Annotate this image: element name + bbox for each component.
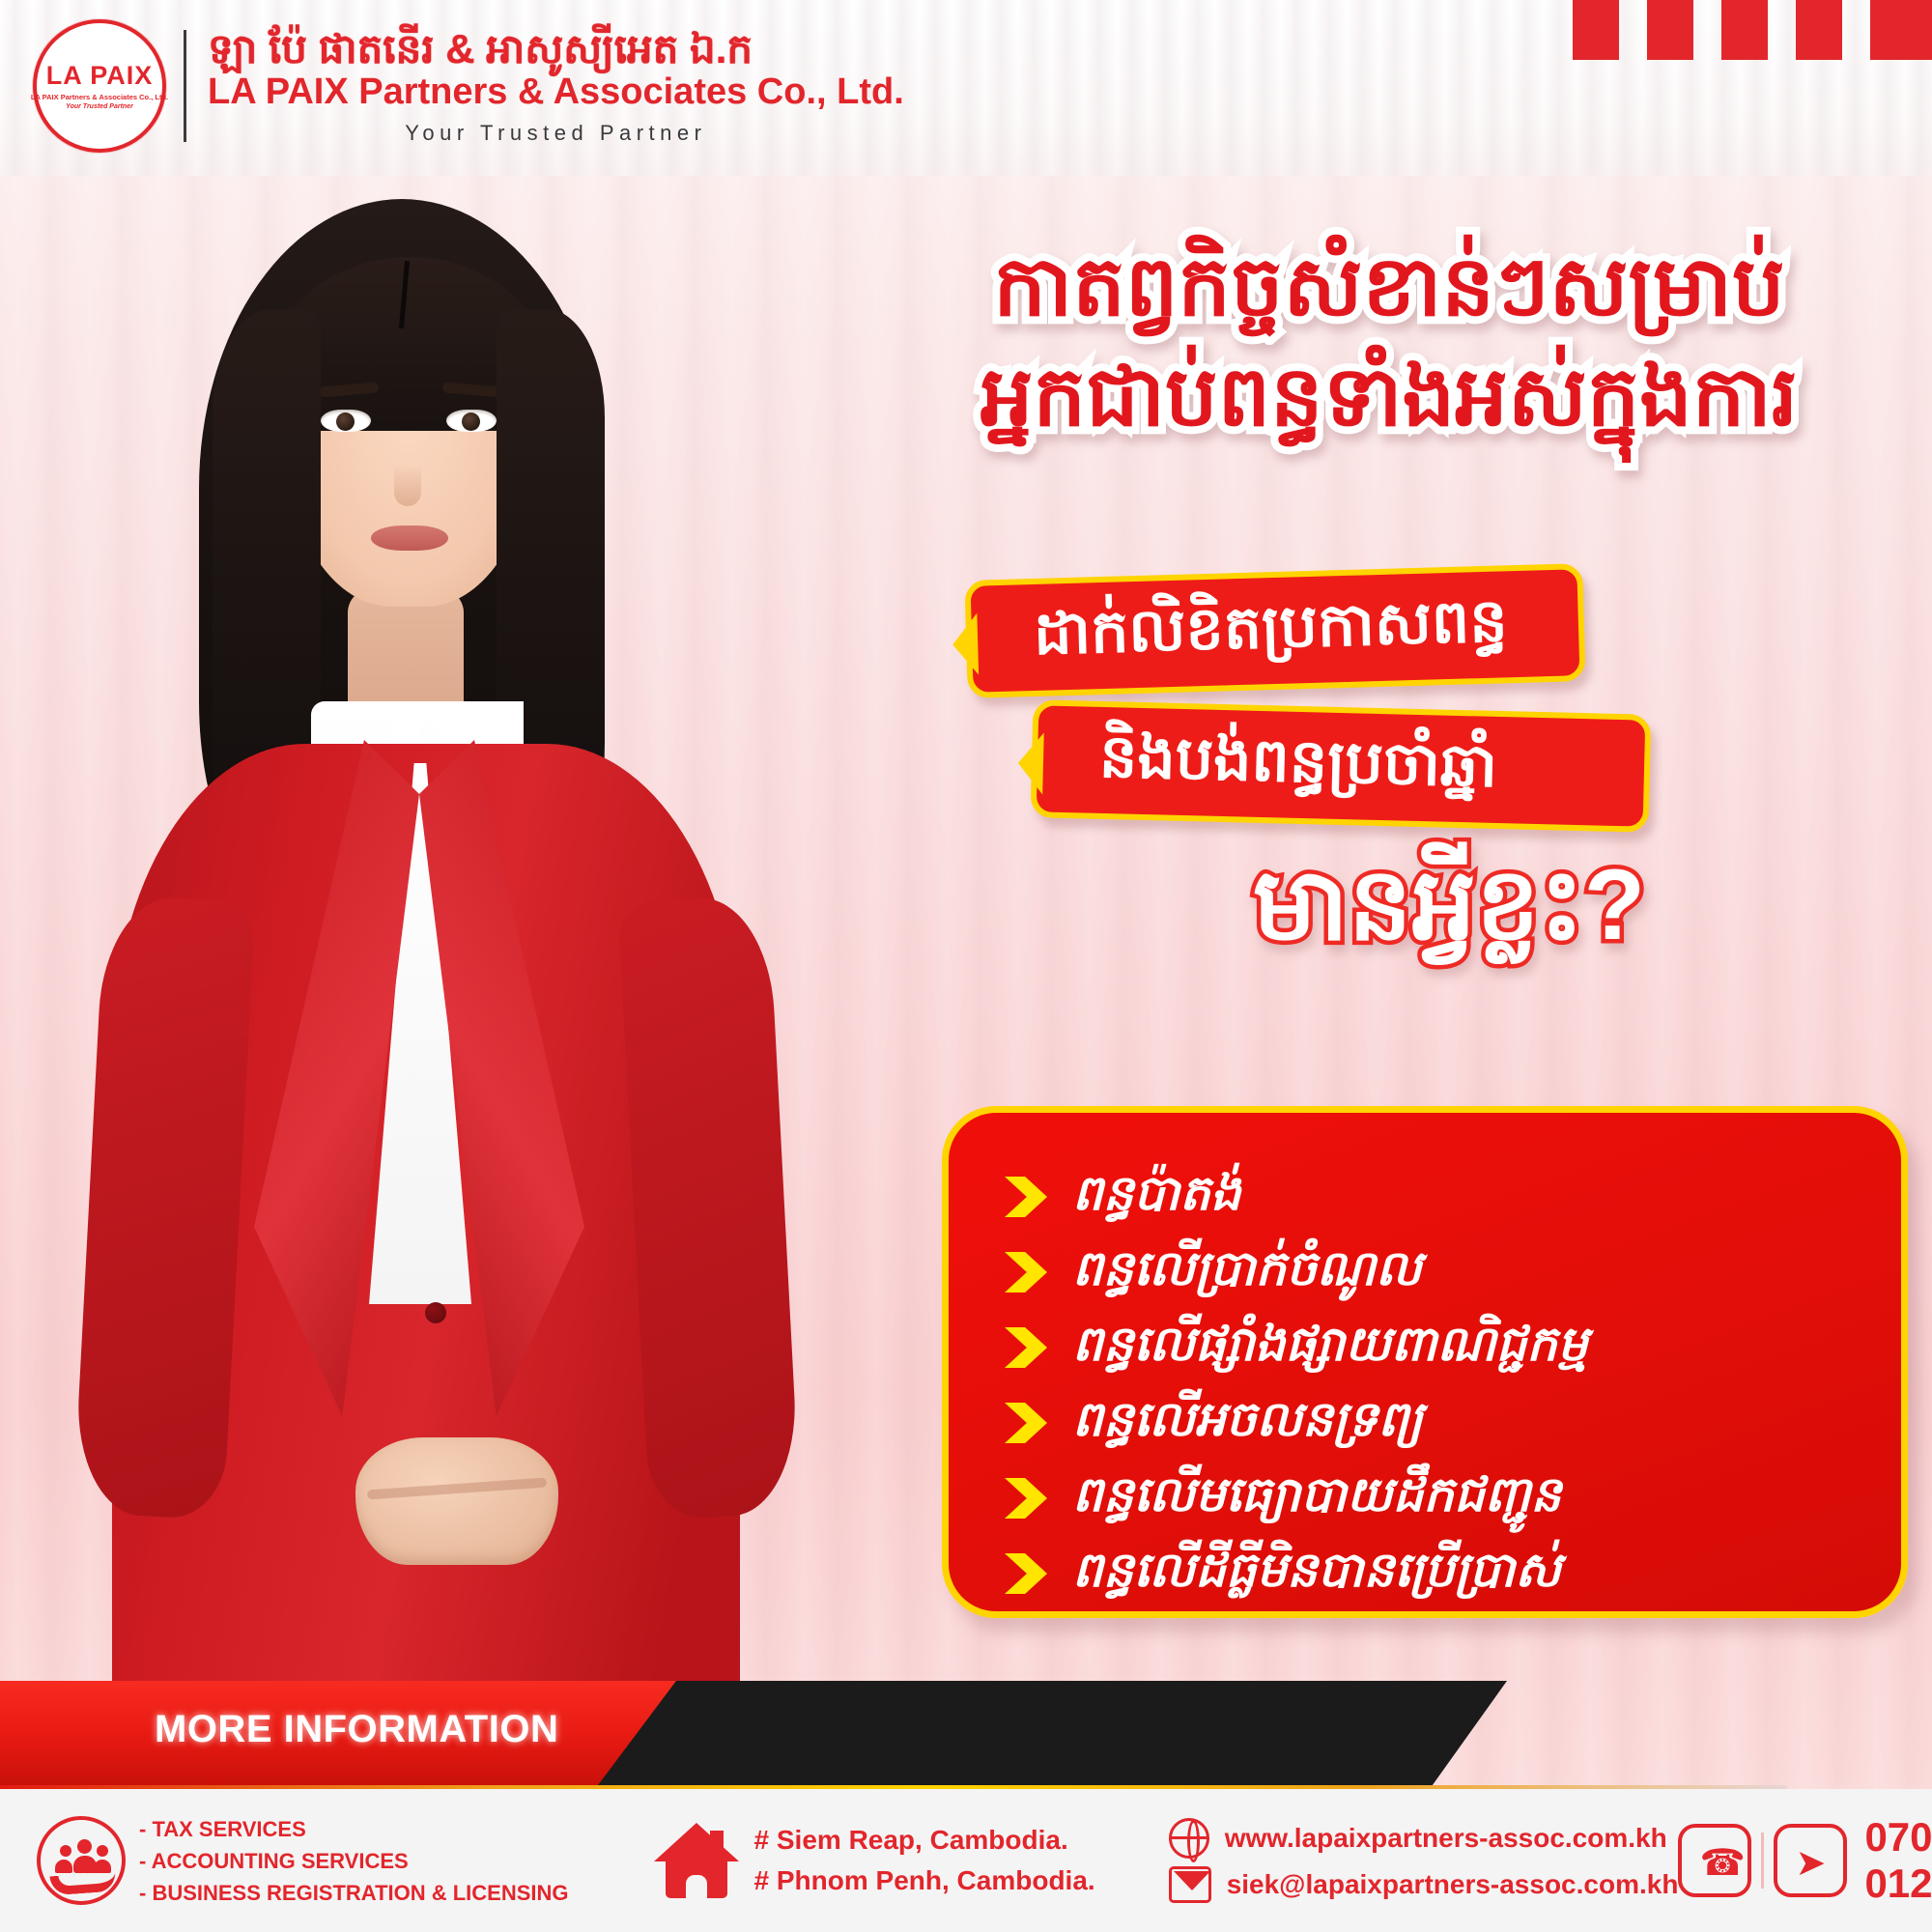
poster-canvas: LA PAIX LA PAIX Partners & Associates Co…	[0, 0, 1932, 1932]
icon-door	[686, 1875, 707, 1898]
footer-phone-group: ☎ ➤ 070 496 666 012 411 499	[1678, 1814, 1932, 1907]
headline: កាតព្វកិច្ចសំខាន់ៗសម្រាប់ អ្នកជាប់ពន្ធទា…	[848, 228, 1930, 456]
icon-body	[94, 1860, 111, 1873]
email-row[interactable]: siek@lapaixpartners-assoc.com.kh	[1169, 1866, 1679, 1903]
pill-annual-tax-payment[interactable]: និងបង់ពន្ធប្រចាំឆ្នាំ	[1031, 699, 1652, 833]
envelope-icon	[1169, 1866, 1211, 1903]
list-item-label: ពន្ធលើមធ្យោបាយដឹកជញ្ជូន	[1072, 1470, 1561, 1526]
telegram-icon: ➤	[1795, 1843, 1833, 1884]
chevron-right-icon	[1005, 1403, 1047, 1443]
list-item: ពន្ធលើអចលនទ្រព្យ	[1005, 1385, 1868, 1461]
address-item: # Siem Reap, Cambodia.	[754, 1820, 1095, 1861]
brand-header: LA PAIX LA PAIX Partners & Associates Co…	[33, 19, 904, 153]
list-item-label: ពន្ធលើដីធ្លីមិនបានប្រើប្រាស់	[1072, 1546, 1561, 1602]
home-icon	[654, 1823, 739, 1898]
icon-hand	[49, 1872, 116, 1896]
website-row[interactable]: www.lapaixpartners-assoc.com.kh	[1169, 1818, 1679, 1859]
blazer-button	[425, 1302, 446, 1323]
decorative-bar	[1647, 0, 1693, 60]
web-contact-list: www.lapaixpartners-assoc.com.kh siek@lap…	[1169, 1818, 1679, 1903]
eye-left	[321, 410, 371, 432]
phone-numbers: 070 496 666 012 411 499	[1864, 1814, 1932, 1907]
question-text-block: មានអ្វីខ្លះ?	[966, 850, 1932, 960]
phone-icon-button[interactable]: ☎	[1678, 1824, 1751, 1897]
list-item: ពន្ធលើដីធ្លីមិនបានប្រើប្រាស់	[1005, 1536, 1868, 1611]
list-item: ពន្ធប៉ាតង់	[1005, 1159, 1868, 1235]
icon-roof	[654, 1823, 739, 1861]
address-list: # Siem Reap, Cambodia. # Phnom Penh, Cam…	[754, 1820, 1095, 1901]
pill-notch-icon	[952, 613, 979, 676]
company-name-khmer: ឡា ប៉ែ ផាតនើរ & អាសូស្យីអេត ឯ.ក	[208, 26, 904, 71]
banner-black-shape	[541, 1681, 1507, 1789]
chevron-right-icon	[1005, 1553, 1047, 1594]
nose	[394, 454, 421, 506]
list-item-label: ពន្ធប៉ាតង់	[1072, 1169, 1241, 1225]
decorative-bar	[1796, 0, 1842, 60]
logo-company-line: LA PAIX Partners & Associates Co., Ltd.	[31, 93, 168, 101]
footer: - TAX SERVICES - ACCOUNTING SERVICES - B…	[0, 1789, 1932, 1932]
phone-icon: ☎	[1699, 1843, 1738, 1884]
services-list: - TAX SERVICES - ACCOUNTING SERVICES - B…	[139, 1813, 569, 1909]
address-item: # Phnom Penh, Cambodia.	[754, 1861, 1095, 1901]
pill-label: ដាក់លិខិតប្រកាសពន្ធ	[971, 591, 1508, 671]
headline-line-2: អ្នកជាប់ពន្ធទាំងអស់ក្នុងការ	[848, 338, 1930, 456]
people-in-hand-icon	[37, 1816, 126, 1905]
pill-file-tax-return[interactable]: ដាក់លិខិតប្រកាសពន្ធ	[964, 563, 1585, 698]
icon-head	[77, 1839, 92, 1854]
pill-label: និងបង់ពន្ធប្រចាំឆ្នាំ	[1037, 725, 1498, 803]
lips	[371, 526, 448, 551]
list-item-label: ពន្ធលើប្រាក់ចំណូល	[1072, 1244, 1422, 1300]
logo-mark: LA PAIX LA PAIX Partners & Associates Co…	[33, 19, 166, 153]
globe-icon	[1169, 1818, 1209, 1859]
phone-number: 012 411 499	[1864, 1861, 1932, 1907]
service-item: - TAX SERVICES	[139, 1813, 569, 1845]
vertical-divider	[184, 30, 186, 142]
question-text: មានអ្វីខ្លះ?	[1253, 849, 1645, 961]
brand-tagline: Your Trusted Partner	[208, 121, 904, 146]
footer-services-group: - TAX SERVICES - ACCOUNTING SERVICES - B…	[37, 1813, 569, 1909]
banner-red-shape: MORE INFORMATION	[0, 1681, 676, 1789]
phone-number: 070 496 666	[1864, 1814, 1932, 1861]
list-item: ពន្ធលើមធ្យោបាយដឹកជញ្ជូន	[1005, 1461, 1868, 1536]
icon-body	[55, 1860, 72, 1873]
list-item: ពន្ធលើផ្សាំងផ្សាយពាណិជ្ជកម្ម	[1005, 1310, 1868, 1385]
chevron-right-icon	[1005, 1327, 1047, 1368]
service-item: - BUSINESS REGISTRATION & LICENSING	[139, 1877, 569, 1909]
top-decorative-bars	[1573, 0, 1932, 60]
logo-tagline: Your Trusted Partner	[66, 103, 133, 110]
arm-right	[617, 895, 800, 1520]
icon-head	[97, 1845, 108, 1857]
tax-types-list: ពន្ធប៉ាតង់ ពន្ធលើប្រាក់ចំណូល ពន្ធលើផ្សាំ…	[1005, 1159, 1868, 1611]
businesswoman-photo	[29, 164, 879, 1710]
chevron-right-icon	[1005, 1252, 1047, 1293]
decorative-bar	[1573, 0, 1619, 60]
more-information-banner: MORE INFORMATION	[0, 1681, 1932, 1795]
chevron-right-icon	[1005, 1177, 1047, 1217]
company-name-english: LA PAIX Partners & Associates Co., Ltd.	[208, 71, 904, 113]
service-item: - ACCOUNTING SERVICES	[139, 1845, 569, 1877]
icon-separator	[1761, 1833, 1764, 1889]
headline-line-1: កាតព្វកិច្ចសំខាន់ៗសម្រាប់	[848, 228, 1930, 346]
email-address: siek@lapaixpartners-assoc.com.kh	[1227, 1869, 1679, 1900]
chevron-right-icon	[1005, 1478, 1047, 1519]
footer-location-group: # Siem Reap, Cambodia. # Phnom Penh, Cam…	[654, 1820, 1095, 1901]
banner-title: MORE INFORMATION	[155, 1708, 558, 1751]
pill-group: ដាក់លិខិតប្រកាសពន្ធ និងបង់ពន្ធប្រចាំឆ្នា…	[966, 572, 1932, 825]
pill-notch-icon	[1017, 732, 1044, 795]
list-item-label: ពន្ធលើផ្សាំងផ្សាយពាណិជ្ជកម្ម	[1072, 1320, 1588, 1376]
eye-right	[446, 410, 497, 432]
list-item-label: ពន្ធលើអចលនទ្រព្យ	[1072, 1395, 1423, 1451]
decorative-bar	[1721, 0, 1768, 60]
logo-wordmark: LA PAIX	[46, 63, 154, 89]
tax-types-card: ពន្ធប៉ាតង់ ពន្ធលើប្រាក់ចំណូល ពន្ធលើផ្សាំ…	[942, 1106, 1908, 1618]
decorative-bar	[1870, 0, 1932, 60]
telegram-icon-button[interactable]: ➤	[1774, 1824, 1847, 1897]
website-url: www.lapaixpartners-assoc.com.kh	[1225, 1823, 1667, 1854]
list-item: ពន្ធលើប្រាក់ចំណូល	[1005, 1235, 1868, 1310]
footer-contact-group: www.lapaixpartners-assoc.com.kh siek@lap…	[1169, 1818, 1679, 1903]
clasped-hands	[355, 1437, 558, 1565]
brand-name-stack: ឡា ប៉ែ ផាតនើរ & អាសូស្យីអេត ឯ.ក LA PAIX …	[208, 26, 904, 146]
icon-head	[60, 1845, 71, 1857]
